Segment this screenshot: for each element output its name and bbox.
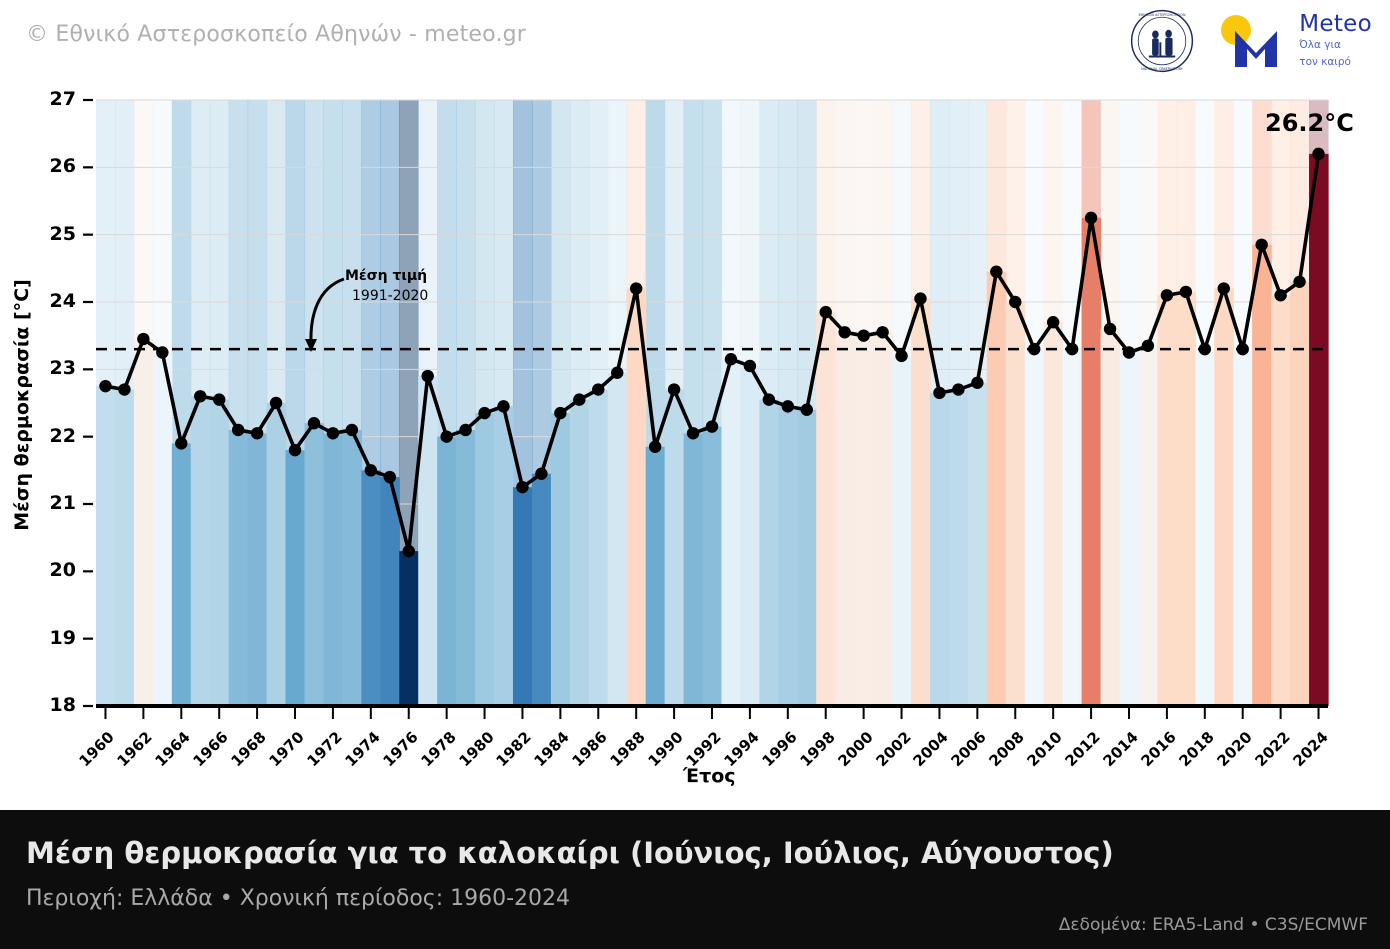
caption-title: Μέση θερμοκρασία για το καλοκαίρι (Ιούνι… xyxy=(26,836,1114,870)
chart-bar[interactable] xyxy=(665,390,685,706)
series-marker[interactable] xyxy=(706,420,718,432)
series-marker[interactable] xyxy=(478,407,490,419)
series-marker[interactable] xyxy=(403,545,415,557)
chart-bar[interactable] xyxy=(437,437,457,706)
series-marker[interactable] xyxy=(914,292,926,304)
series-marker[interactable] xyxy=(270,397,282,409)
caption-subtitle: Περιοχή: Ελλάδα • Χρονική περίοδος: 1960… xyxy=(26,886,570,911)
series-marker[interactable] xyxy=(118,383,130,395)
y-axis-tick-label: 24 xyxy=(32,290,76,312)
series-marker[interactable] xyxy=(592,383,604,395)
series-marker[interactable] xyxy=(630,282,642,294)
series-marker[interactable] xyxy=(801,404,813,416)
series-marker[interactable] xyxy=(1066,343,1078,355)
series-marker[interactable] xyxy=(1293,276,1305,288)
chart-bar[interactable] xyxy=(399,551,419,706)
series-marker[interactable] xyxy=(1237,343,1249,355)
y-axis-tick-label: 26 xyxy=(32,155,76,177)
chart-bar[interactable] xyxy=(835,332,855,706)
chart-bar[interactable] xyxy=(115,390,135,706)
chart-bar[interactable] xyxy=(1271,295,1291,706)
x-axis-title: Έτος xyxy=(683,765,736,787)
chart-bar[interactable] xyxy=(494,406,514,706)
chart-bar[interactable] xyxy=(911,299,931,706)
series-marker[interactable] xyxy=(971,377,983,389)
series-marker[interactable] xyxy=(744,360,756,372)
chart-bar[interactable] xyxy=(304,423,324,706)
chart-page: © Εθνικό Αστεροσκοπείο Αθηνών - meteo.gr… xyxy=(0,0,1390,949)
chart-bar[interactable] xyxy=(684,433,704,706)
series-marker[interactable] xyxy=(156,346,168,358)
series-marker[interactable] xyxy=(99,380,111,392)
series-marker[interactable] xyxy=(952,383,964,395)
y-axis-tick-label: 27 xyxy=(32,88,76,110)
chart-bar[interactable] xyxy=(1082,218,1102,706)
y-axis-tick-label: 22 xyxy=(32,425,76,447)
series-marker[interactable] xyxy=(838,326,850,338)
chart-bar[interactable] xyxy=(759,400,779,706)
series-marker[interactable] xyxy=(1104,323,1116,335)
chart-bar[interactable] xyxy=(172,443,192,706)
chart-bar[interactable] xyxy=(286,450,306,706)
chart-bar[interactable] xyxy=(1195,349,1215,706)
chart-bar[interactable] xyxy=(323,433,343,706)
series-marker[interactable] xyxy=(857,329,869,341)
chart-bar[interactable] xyxy=(1290,282,1310,706)
mean-annotation-subtitle: 1991-2020 xyxy=(352,288,428,304)
chart-bar[interactable] xyxy=(608,373,628,706)
y-axis-tick-label: 19 xyxy=(32,627,76,649)
series-marker[interactable] xyxy=(687,427,699,439)
y-axis-tick-label: 25 xyxy=(32,223,76,245)
chart-bar[interactable] xyxy=(740,366,760,706)
chart-bar[interactable] xyxy=(248,433,268,706)
y-axis-tick-label: 23 xyxy=(32,357,76,379)
series-marker[interactable] xyxy=(1123,346,1135,358)
chart-bar[interactable] xyxy=(949,390,969,706)
chart-bar[interactable] xyxy=(854,336,874,706)
chart-bar[interactable] xyxy=(646,447,666,706)
mean-annotation-title: Μέση τιμή xyxy=(345,268,427,284)
chart-bar[interactable] xyxy=(1120,353,1140,707)
chart-bar[interactable] xyxy=(778,406,798,706)
series-marker[interactable] xyxy=(459,424,471,436)
series-marker[interactable] xyxy=(990,266,1002,278)
chart-bar[interactable] xyxy=(873,332,893,706)
y-axis-tick-label: 20 xyxy=(32,559,76,581)
series-marker[interactable] xyxy=(1199,343,1211,355)
peak-value-label: 26.2°C xyxy=(1265,109,1354,137)
series-marker[interactable] xyxy=(1085,212,1097,224)
chart-bar[interactable] xyxy=(721,359,741,706)
series-marker[interactable] xyxy=(213,393,225,405)
chart-bar[interactable] xyxy=(1063,349,1083,706)
series-marker[interactable] xyxy=(1047,316,1059,328)
chart-bar[interactable] xyxy=(1309,154,1329,706)
chart-bar[interactable] xyxy=(210,400,230,706)
series-marker[interactable] xyxy=(895,350,907,362)
chart-bar[interactable] xyxy=(570,400,590,706)
chart-bar[interactable] xyxy=(1044,322,1064,706)
series-marker[interactable] xyxy=(327,427,339,439)
series-marker[interactable] xyxy=(516,481,528,493)
chart-bar[interactable] xyxy=(930,393,950,706)
series-marker[interactable] xyxy=(1255,239,1267,251)
y-axis-tick-label: 21 xyxy=(32,492,76,514)
series-marker[interactable] xyxy=(668,383,680,395)
chart-bar[interactable] xyxy=(191,396,211,706)
chart-bar[interactable] xyxy=(532,474,552,706)
chart-bar[interactable] xyxy=(342,430,362,706)
series-marker[interactable] xyxy=(365,464,377,476)
y-axis-tick-label: 18 xyxy=(32,694,76,716)
series-marker[interactable] xyxy=(232,424,244,436)
series-marker[interactable] xyxy=(1218,282,1230,294)
series-marker[interactable] xyxy=(554,407,566,419)
chart-bar[interactable] xyxy=(987,272,1007,706)
chart-bar[interactable] xyxy=(96,386,116,706)
series-marker[interactable] xyxy=(725,353,737,365)
chart-bar[interactable] xyxy=(1252,245,1272,706)
series-marker[interactable] xyxy=(1142,340,1154,352)
chart-bar[interactable] xyxy=(456,430,476,706)
chart-bar[interactable] xyxy=(703,427,723,706)
chart-plot-area: 1819202122232425262719601962196419661968… xyxy=(0,0,1390,800)
chart-bar[interactable] xyxy=(153,353,173,707)
series-marker[interactable] xyxy=(194,390,206,402)
chart-bar[interactable] xyxy=(892,356,912,706)
chart-bar[interactable] xyxy=(968,383,988,706)
chart-bar[interactable] xyxy=(1006,302,1026,706)
series-marker[interactable] xyxy=(137,333,149,345)
caption-bar: Μέση θερμοκρασία για το καλοκαίρι (Ιούνι… xyxy=(0,810,1390,949)
series-marker[interactable] xyxy=(251,427,263,439)
chart-bar[interactable] xyxy=(267,403,287,706)
series-marker[interactable] xyxy=(1312,148,1324,160)
series-marker[interactable] xyxy=(421,370,433,382)
series-marker[interactable] xyxy=(175,437,187,449)
series-marker[interactable] xyxy=(346,424,358,436)
chart-bar[interactable] xyxy=(134,339,154,706)
chart-bar[interactable] xyxy=(589,390,609,706)
chart-bar[interactable] xyxy=(1176,292,1196,706)
series-marker[interactable] xyxy=(1274,289,1286,301)
series-marker[interactable] xyxy=(763,393,775,405)
series-marker[interactable] xyxy=(1028,343,1040,355)
caption-source: Δεδομένα: ERA5-Land • C3S/ECMWF xyxy=(1059,915,1368,935)
series-marker[interactable] xyxy=(1180,286,1192,298)
series-marker[interactable] xyxy=(611,367,623,379)
y-axis-title: Μέση θερμοκρασία [°C] xyxy=(11,279,33,531)
chart-bar[interactable] xyxy=(229,430,249,706)
series-marker[interactable] xyxy=(497,400,509,412)
series-marker[interactable] xyxy=(820,306,832,318)
chart-bar[interactable] xyxy=(1025,349,1045,706)
chart-bar[interactable] xyxy=(1214,289,1234,706)
series-marker[interactable] xyxy=(535,468,547,480)
chart-bar[interactable] xyxy=(361,470,381,706)
chart-bar[interactable] xyxy=(551,413,571,706)
chart-svg xyxy=(0,0,1390,800)
series-marker[interactable] xyxy=(876,326,888,338)
chart-bar[interactable] xyxy=(1101,329,1121,706)
series-marker[interactable] xyxy=(289,444,301,456)
chart-bar[interactable] xyxy=(816,312,836,706)
chart-bar[interactable] xyxy=(475,413,495,706)
series-marker[interactable] xyxy=(933,387,945,399)
chart-bar[interactable] xyxy=(1157,295,1177,706)
chart-bar[interactable] xyxy=(513,487,533,706)
series-marker[interactable] xyxy=(573,393,585,405)
chart-bar[interactable] xyxy=(1233,349,1253,706)
series-marker[interactable] xyxy=(384,471,396,483)
series-marker[interactable] xyxy=(1009,296,1021,308)
chart-bar[interactable] xyxy=(1138,346,1158,706)
series-marker[interactable] xyxy=(649,441,661,453)
chart-bar[interactable] xyxy=(797,410,817,706)
series-marker[interactable] xyxy=(782,400,794,412)
series-marker[interactable] xyxy=(440,430,452,442)
series-marker[interactable] xyxy=(308,417,320,429)
series-marker[interactable] xyxy=(1161,289,1173,301)
